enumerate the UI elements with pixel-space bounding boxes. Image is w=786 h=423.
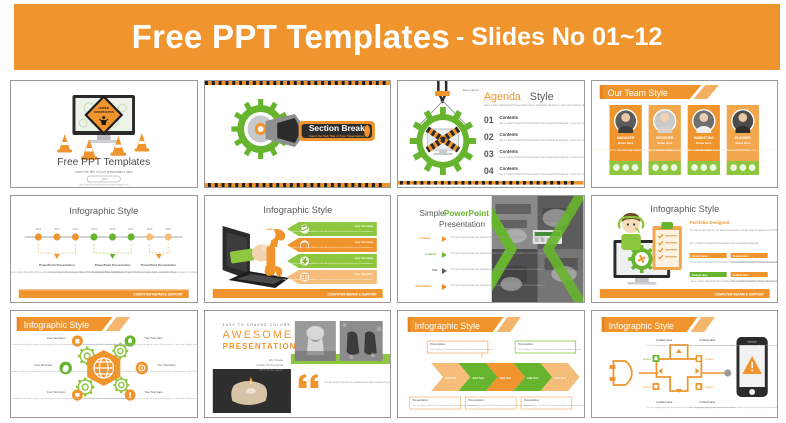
slide-03-title-rest: Style (530, 91, 554, 103)
item-label: Your Text Here (34, 363, 53, 367)
slide-03-item-label: Contents (500, 149, 519, 154)
team-card-name: Name Here (735, 141, 751, 145)
slide-01-button: ...PPT (99, 177, 108, 181)
slide-09-text: Infographic Style Your Text Here You can… (11, 311, 197, 417)
item-label: Content Here (656, 400, 672, 404)
slide-07-title-a: Simple (419, 208, 444, 218)
slide-10-title1: AWESOME (222, 329, 293, 341)
item-body: You can simply impress your audience and… (96, 370, 197, 373)
timeline-year: 2013 (54, 227, 60, 231)
chevron-label: Add Text (445, 376, 457, 380)
bar-body: You can simply impress your audience and… (282, 262, 373, 265)
slide-01-subtitle: Insert the title of your presentation he… (75, 170, 133, 174)
item-label: Your Text Here (144, 336, 163, 340)
callout-label: Presentation (518, 342, 534, 346)
slide-03-item-num: 01 (484, 115, 494, 125)
slide-06-footer: COMPUTER REPAIR & SUPPORT (327, 293, 376, 297)
team-card-name: Name Here (657, 141, 673, 145)
box-body: Get a modern PowerPoint Presentation tha… (731, 280, 777, 283)
slide-08-body: You can simply impress your audience and… (689, 229, 777, 232)
slide-08-body2: Get a modern PowerPoint Presentation tha… (689, 242, 759, 245)
slide-03-item-body: Get a modern PowerPoint Presentation tha… (500, 173, 584, 176)
box-label: Content Here (691, 273, 707, 277)
slide-02-title: Section Break (308, 123, 364, 133)
ppt-template-preview-sheet: Free PPT Templates - Slides No 01~12 (0, 0, 786, 423)
bar-label: Your Text Here (354, 272, 373, 276)
header-banner: Free PPT Templates - Slides No 01~12 (14, 4, 780, 70)
item-label: Presentation (416, 284, 432, 288)
banner-subtitle: - Slides No 01~12 (456, 23, 662, 52)
slide-12-title: Infographic Style (608, 321, 673, 331)
slide-thumbnail-09[interactable]: Infographic Style Your Text Here You can… (10, 310, 198, 418)
item-label: Your Text Here (157, 363, 176, 367)
item-body: You can simply impress your audience and… (451, 284, 546, 287)
box-body: Get a modern PowerPoint Presentation tha… (731, 261, 777, 264)
slide-08-text: Infographic Style Portfolio Designed You… (592, 196, 778, 302)
team-card-name: Name Here (696, 141, 712, 145)
item-label: Your Text Here (47, 390, 66, 394)
item-label: Contents (425, 252, 437, 256)
slide-10-tagline-1: We Create (268, 358, 283, 362)
slide-10-text: EASY TO CHANGE COLORS AWESOME PRESENTATI… (205, 311, 391, 417)
item-label: Content Here (699, 338, 715, 342)
slide-07-title-c: Presentation (439, 219, 485, 229)
slide-03-subtitle: Get a modern PowerPoint Presentation tha… (484, 103, 584, 107)
slide-03-item-label: Contents (500, 115, 519, 120)
item-label: Contents (419, 236, 431, 240)
callout-body: Get a modern PowerPoint Presentation tha… (524, 404, 584, 407)
slide-05-footer: COMPUTER REPAIR & SUPPORT (134, 293, 183, 297)
timeline-group-label: PowerPoint Presentation (39, 263, 75, 267)
slide-03-item-body: Get a modern PowerPoint Presentation tha… (500, 156, 584, 159)
bar-body: You can simply impress your audience and… (282, 230, 373, 233)
slide-02-text: Section Break Insert the Sub Title of Yo… (205, 81, 391, 187)
bar-body: You can simply impress your audience and… (282, 278, 373, 281)
bar-label: Your Text Here (354, 256, 373, 260)
callout-label: Presentation (413, 398, 429, 402)
slide-03-text: Tech support Agenda Style Get a modern P… (398, 81, 584, 187)
chevron-label: Add Text (500, 376, 512, 380)
slide-01-footer: http://www.free-powerpoint-templates-des… (79, 183, 128, 186)
slide-02-subtitle: Insert the Sub Title of Your Presentatio… (309, 134, 365, 138)
callout-label: Presentation (468, 398, 484, 402)
item-label: Content Here (699, 400, 715, 404)
slide-thumbnail-10[interactable]: EASY TO CHANGE COLORS AWESOME PRESENTATI… (204, 310, 392, 418)
slide-04-text: Our Team Style MANAGER Name Here You can… (592, 81, 778, 187)
slide-thumbnail-11[interactable]: Infographic Style Add Text Add Text Add … (397, 310, 585, 418)
slide-03-item-body: Get a modern PowerPoint Presentation tha… (500, 139, 584, 142)
timeline-year: 2014 (73, 227, 79, 231)
slide-03-item-num: 04 (484, 166, 494, 176)
slide-11-title: Infographic Style (415, 321, 480, 331)
item-label: Your Text Here (47, 336, 66, 340)
slide-12-text: Infographic Style Content Here You can s… (592, 311, 778, 417)
timeline-year: 2015 (91, 227, 97, 231)
slide-03-item-label: Contents (500, 132, 519, 137)
item-label: Content Here (656, 338, 672, 342)
timeline-group-label: PowerPoint Presentation (141, 263, 177, 267)
slide-thumbnail-07[interactable]: Simple PowerPoint Presentation Contents … (397, 195, 585, 303)
slide-08-title: Infographic Style (650, 204, 719, 214)
slide-grid: UNDER CONSTRUCTION (10, 80, 778, 418)
item-body: You can simply impress your audience and… (689, 406, 777, 409)
bar-body: You can simply impress your audience and… (282, 246, 373, 249)
team-card-role: MARKETING (693, 136, 713, 140)
timeline-year: 2012 (36, 227, 42, 231)
slide-06-title: Infographic Style (263, 205, 332, 215)
item-body: You can simply impress your audience and… (451, 252, 546, 255)
slide-thumbnail-05[interactable]: Infographic Style 2012 2013 2014 2015 20… (10, 195, 198, 303)
box-label: Content Here (732, 273, 748, 277)
slide-03-title-accent: Agenda (484, 91, 522, 103)
slide-10-kicker: EASY TO CHANGE COLORS (222, 323, 290, 327)
item-body: You can simply impress your audience and… (83, 343, 196, 346)
slide-thumbnail-06[interactable]: Infographic Style Your Text Here You can… (204, 195, 392, 303)
team-card-role: DESIGNER (656, 136, 674, 140)
item-body: You can simply impress your audience and… (451, 236, 546, 239)
slide-10-title2: PRESENTATION (222, 342, 296, 351)
bar-label: Your Text Here (354, 240, 373, 244)
item-body: You can simply impress your audience and… (451, 268, 546, 271)
timeline-year: 2016 (110, 227, 116, 231)
slide-03-item-body: Get a modern PowerPoint Presentation tha… (500, 122, 584, 125)
timeline-group-label: PowerPoint Presentation (95, 263, 131, 267)
slide-08-heading: Portfolio Designed (689, 220, 729, 225)
slide-thumbnail-03[interactable]: Tech support Agenda Style Get a modern P… (397, 80, 585, 188)
team-card-role: PLANNER (734, 136, 751, 140)
slide-03-item-num: 02 (484, 132, 494, 142)
slide-05-text: Infographic Style 2012 2013 2014 2015 20… (11, 196, 197, 302)
item-body: You can simply impress your audience and… (689, 344, 777, 347)
chevron-label: Add Text (554, 376, 566, 380)
slide-thumbnail-08[interactable]: Infographic Style Portfolio Designed You… (591, 195, 779, 303)
slide-01-title: Free PPT Templates (57, 157, 150, 168)
team-card-name: Name Here (618, 141, 634, 145)
timeline-year: 2017 (128, 227, 134, 231)
callout-body: Get a modern PowerPoint Presentation tha… (430, 348, 494, 351)
slide-11-text: Infographic Style Add Text Add Text Add … (398, 311, 584, 417)
slide-thumbnail-02[interactable]: Section Break Insert the Sub Title of Yo… (204, 80, 392, 188)
box-label: Content Here (732, 254, 748, 258)
callout-label: Presentation (524, 398, 540, 402)
banner-title: Free PPT Templates (132, 18, 450, 56)
slide-08-footer: COMPUTER REPAIR & SUPPORT (714, 293, 763, 297)
slide-10-quote: You can simply impress your audience and… (324, 381, 390, 384)
callout-body: Get a modern PowerPoint Presentation tha… (468, 404, 532, 407)
bar-label: Your Text Here (354, 224, 373, 228)
slide-10-tagline-3: PPT Presentation (259, 368, 283, 372)
item-tag: Content (642, 386, 651, 389)
team-card-body: You can simply impress your audience and… (695, 149, 777, 152)
slide-thumbnail-01[interactable]: UNDER CONSTRUCTION (10, 80, 198, 188)
slide-05-title: Infographic Style (69, 206, 138, 216)
slide-07-text: Simple PowerPoint Presentation Contents … (398, 196, 584, 302)
slide-thumbnail-12[interactable]: Infographic Style Content Here You can s… (591, 310, 779, 418)
slide-07-title-b: PowerPoint (444, 208, 489, 218)
slide-thumbnail-04[interactable]: Our Team Style MANAGER Name Here You can… (591, 80, 779, 188)
item-label: Your Text Here (144, 390, 163, 394)
timeline-year: 2019 (165, 227, 171, 231)
item-tag: Content (705, 386, 714, 389)
item-tag: Content (705, 358, 714, 361)
box-label: Content Here (691, 254, 707, 258)
item-label: Text (432, 268, 437, 272)
team-card-role: MANAGER (617, 136, 635, 140)
slide-10-tagline-2: Quality Professional (256, 363, 283, 367)
slide-04-title: Our Team Style (607, 88, 667, 98)
slide-03-item-label: Contents (500, 166, 519, 171)
slide-01-text: Free PPT Templates Insert the title of y… (11, 81, 197, 187)
callout-body: Get a modern PowerPoint Presentation tha… (518, 348, 582, 351)
timeline-year: 2018 (147, 227, 153, 231)
callout-body: Get a modern PowerPoint Presentation tha… (413, 404, 477, 407)
slide-06-text: Infographic Style Your Text Here You can… (205, 196, 391, 302)
slide-03-item-num: 03 (484, 149, 494, 159)
chevron-label: Add Text (472, 376, 484, 380)
slide-09-title: Infographic Style (24, 320, 89, 330)
slide-03-kicker: Tech support (462, 88, 479, 92)
item-body: You can simply impress your audience and… (83, 397, 196, 400)
chevron-label: Add Text (527, 376, 539, 380)
item-tag: Content (642, 358, 651, 361)
callout-label: Presentation (430, 342, 446, 346)
timeline-group-body: Example Text : Get a modern PowerPoint P… (95, 271, 197, 274)
